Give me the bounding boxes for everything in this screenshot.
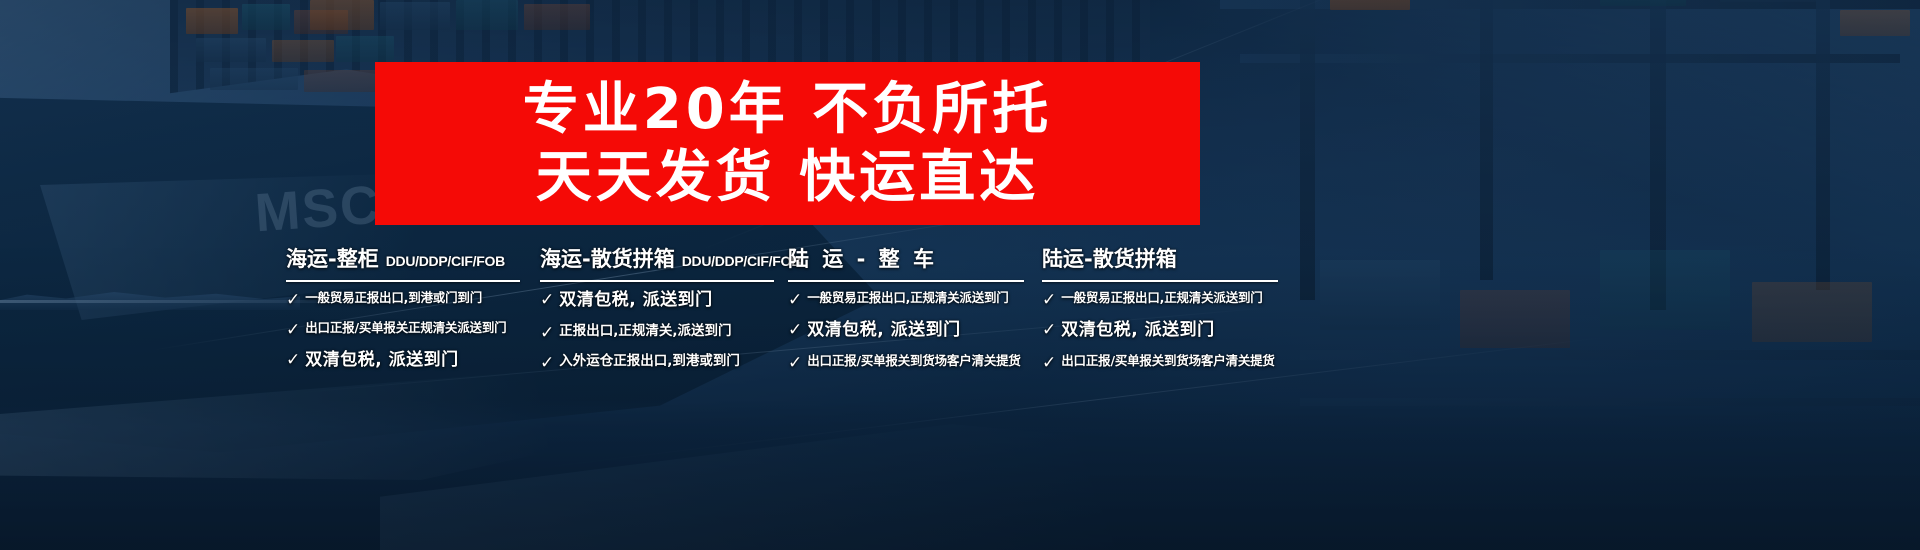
list-item: ✓ 正报出口,正规清关,派送到门 <box>540 324 788 341</box>
column-header: 海运-整柜 DDU/DDP/CIF/FOB <box>286 243 540 273</box>
check-icon: ✓ <box>286 352 300 369</box>
service-column-land-ftl: 陆 运 - 整 车 ✓ 一般贸易正报出口,正规清关派送到门 ✓ 双清包税, 派送… <box>788 243 1042 371</box>
list-item: ✓ 双清包税, 派送到门 <box>788 321 1042 341</box>
list-item-label: 双清包税, 派送到门 <box>1061 321 1214 341</box>
column-header: 海运-散货拼箱 DDU/DDP/CIF/FOB <box>540 243 788 273</box>
column-header: 陆运-散货拼箱 <box>1042 243 1302 273</box>
column-divider <box>286 280 520 282</box>
list-item-label: 双清包税, 派送到门 <box>305 351 458 371</box>
list-item-label: 一般贸易正报出口,正规清关派送到门 <box>807 291 1008 305</box>
list-item-label: 入外运仓正报出口,到港或到门 <box>559 354 740 370</box>
list-item: ✓ 双清包税, 派送到门 <box>1042 321 1302 341</box>
check-icon: ✓ <box>788 322 802 339</box>
column-bullet-list: ✓ 一般贸易正报出口,正规清关派送到门 ✓ 双清包税, 派送到门 ✓ 出口正报/… <box>788 291 1042 371</box>
list-item: ✓ 一般贸易正报出口,正规清关派送到门 <box>1042 291 1302 308</box>
column-title: 陆 运 - 整 车 <box>788 243 937 273</box>
list-item-label: 正报出口,正规清关,派送到门 <box>559 324 731 340</box>
promo-headline-line-1: 专业20年 不负所托 <box>523 79 1052 141</box>
column-bullet-list: ✓ 双清包税, 派送到门 ✓ 正报出口,正规清关,派送到门 ✓ 入外运仓正报出口… <box>540 291 788 371</box>
list-item: ✓ 双清包税, 派送到门 <box>540 291 788 311</box>
service-column-sea-lcl: 海运-散货拼箱 DDU/DDP/CIF/FOB ✓ 双清包税, 派送到门 ✓ 正… <box>540 243 788 371</box>
service-column-sea-fcl: 海运-整柜 DDU/DDP/CIF/FOB ✓ 一般贸易正报出口,到港或门到门 … <box>286 243 540 371</box>
check-icon: ✓ <box>788 355 802 372</box>
list-item: ✓ 出口正报/买单报关到货场客户清关提货 <box>788 354 1042 371</box>
check-icon: ✓ <box>1042 292 1056 309</box>
list-item-label: 出口正报/买单报关到货场客户清关提货 <box>807 354 1020 368</box>
column-title: 海运-散货拼箱 <box>540 243 675 273</box>
list-item-label: 双清包税, 派送到门 <box>559 291 712 311</box>
list-item: ✓ 双清包税, 派送到门 <box>286 351 540 371</box>
banner-stage: MSC <box>0 0 1920 550</box>
promo-headline-line-2: 天天发货 快运直达 <box>536 147 1040 209</box>
list-item-label: 出口正报/买单报关到货场客户清关提货 <box>1061 354 1274 368</box>
list-item-label: 一般贸易正报出口,到港或门到门 <box>305 291 482 305</box>
list-item-label: 双清包税, 派送到门 <box>807 321 960 341</box>
check-icon: ✓ <box>540 355 554 372</box>
list-item: ✓ 一般贸易正报出口,正规清关派送到门 <box>788 291 1042 308</box>
list-item: ✓ 出口正报/买单报关到货场客户清关提货 <box>1042 354 1302 371</box>
check-icon: ✓ <box>286 292 300 309</box>
column-title: 陆运-散货拼箱 <box>1042 243 1177 273</box>
promo-banner: 专业20年 不负所托 天天发货 快运直达 <box>375 62 1200 225</box>
column-subtitle: DDU/DDP/CIF/FOB <box>386 253 505 269</box>
column-divider <box>1042 280 1278 282</box>
check-icon: ✓ <box>540 292 554 309</box>
list-item: ✓ 出口正报/买单报关正规清关派送到门 <box>286 321 540 338</box>
column-bullet-list: ✓ 一般贸易正报出口,正规清关派送到门 ✓ 双清包税, 派送到门 ✓ 出口正报/… <box>1042 291 1302 371</box>
check-icon: ✓ <box>540 325 554 342</box>
list-item-label: 出口正报/买单报关正规清关派送到门 <box>305 321 506 335</box>
service-column-land-lcl: 陆运-散货拼箱 ✓ 一般贸易正报出口,正规清关派送到门 ✓ 双清包税, 派送到门… <box>1042 243 1302 371</box>
column-divider <box>788 280 1024 282</box>
check-icon: ✓ <box>788 292 802 309</box>
check-icon: ✓ <box>286 322 300 339</box>
list-item: ✓ 入外运仓正报出口,到港或到门 <box>540 354 788 371</box>
column-header: 陆 运 - 整 车 <box>788 243 1042 273</box>
column-subtitle: DDU/DDP/CIF/FOB <box>682 253 801 269</box>
column-divider <box>540 280 774 282</box>
list-item-label: 一般贸易正报出口,正规清关派送到门 <box>1061 291 1262 305</box>
list-item: ✓ 一般贸易正报出口,到港或门到门 <box>286 291 540 308</box>
column-title: 海运-整柜 <box>286 243 379 273</box>
column-bullet-list: ✓ 一般贸易正报出口,到港或门到门 ✓ 出口正报/买单报关正规清关派送到门 ✓ … <box>286 291 540 371</box>
check-icon: ✓ <box>1042 355 1056 372</box>
check-icon: ✓ <box>1042 322 1056 339</box>
service-columns: 海运-整柜 DDU/DDP/CIF/FOB ✓ 一般贸易正报出口,到港或门到门 … <box>286 243 1548 403</box>
